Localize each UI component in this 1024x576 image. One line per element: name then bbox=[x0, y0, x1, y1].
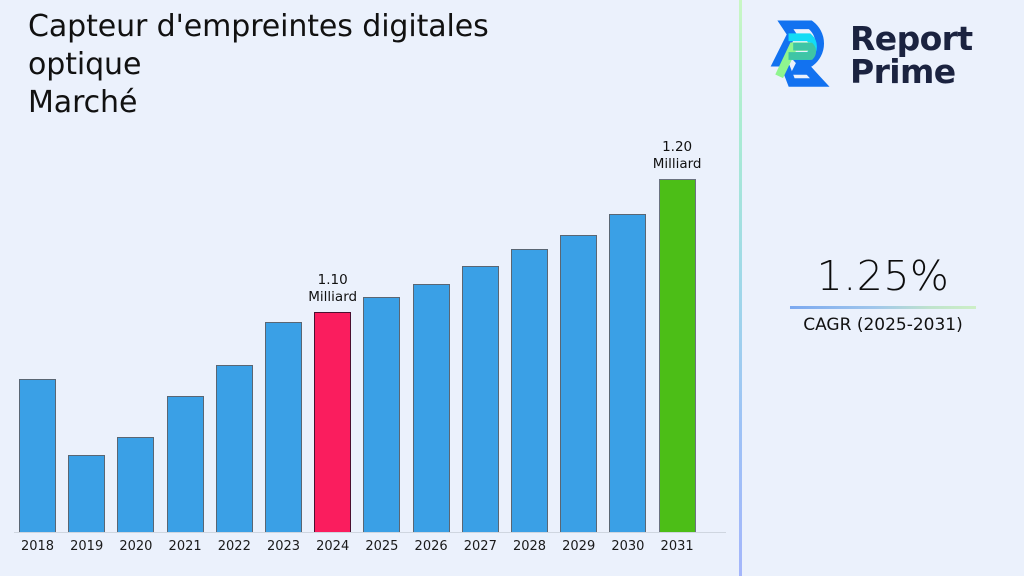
bar-2024[interactable] bbox=[314, 312, 351, 532]
bar-2028[interactable] bbox=[511, 249, 548, 532]
bar-2030[interactable] bbox=[609, 214, 646, 532]
bar-2025[interactable] bbox=[363, 297, 400, 532]
bar-2018[interactable] bbox=[19, 379, 56, 532]
x-tick-label-2020: 2020 bbox=[111, 538, 161, 556]
cagr-block: 1.25% CAGR (2025-2031) bbox=[742, 252, 1024, 336]
bar-2029[interactable] bbox=[560, 235, 597, 532]
bar-2023[interactable] bbox=[265, 322, 302, 532]
x-tick-label-2019: 2019 bbox=[62, 538, 112, 556]
cagr-divider bbox=[790, 306, 976, 309]
bar-2022[interactable] bbox=[216, 365, 253, 532]
x-tick-label-2027: 2027 bbox=[455, 538, 505, 556]
x-tick-label-2026: 2026 bbox=[406, 538, 456, 556]
x-tick-label-2018: 2018 bbox=[13, 538, 63, 556]
bar-2020[interactable] bbox=[117, 437, 154, 532]
plot-area: 2018201920202021202220231.10 Milliard202… bbox=[0, 0, 740, 576]
bar-2019[interactable] bbox=[68, 455, 105, 532]
x-tick-label-2024: 2024 bbox=[308, 538, 358, 556]
brand-logo: Report Prime bbox=[762, 12, 1012, 100]
bar-2026[interactable] bbox=[413, 284, 450, 532]
chart-panel: Capteur d'empreintes digitales optique M… bbox=[0, 0, 740, 576]
brand-panel: Report Prime 1.25% CAGR (2025-2031) bbox=[742, 0, 1024, 576]
bar-2027[interactable] bbox=[462, 266, 499, 532]
x-tick-label-2030: 2030 bbox=[603, 538, 653, 556]
x-axis-line bbox=[14, 532, 726, 533]
bar-2031[interactable] bbox=[659, 179, 696, 532]
x-tick-label-2028: 2028 bbox=[505, 538, 555, 556]
x-tick-label-2029: 2029 bbox=[554, 538, 604, 556]
x-tick-label-2022: 2022 bbox=[209, 538, 259, 556]
x-tick-label-2023: 2023 bbox=[259, 538, 309, 556]
report-prime-logo-icon bbox=[762, 17, 840, 95]
cagr-caption: CAGR (2025-2031) bbox=[742, 314, 1024, 336]
x-tick-label-2021: 2021 bbox=[160, 538, 210, 556]
x-tick-label-2025: 2025 bbox=[357, 538, 407, 556]
bar-2021[interactable] bbox=[167, 396, 204, 532]
x-tick-label-2031: 2031 bbox=[652, 538, 702, 556]
chart-infographic: Capteur d'empreintes digitales optique M… bbox=[0, 0, 1024, 576]
cagr-value: 1.25% bbox=[742, 252, 1024, 300]
brand-wordmark: Report Prime bbox=[850, 22, 973, 90]
bar-value-label-2031: 1.20 Milliard bbox=[617, 139, 737, 173]
